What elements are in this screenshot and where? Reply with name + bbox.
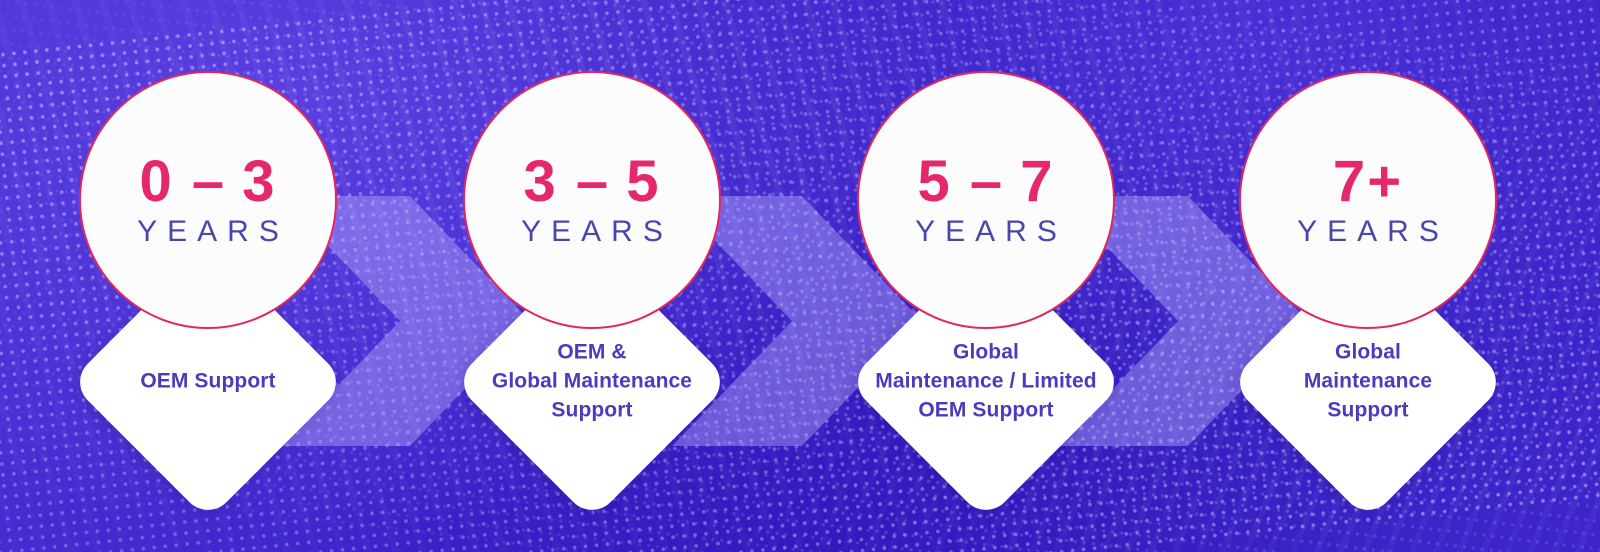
stage-0-3[interactable]: OEM Support 0 – 3 YEARS bbox=[58, 0, 358, 552]
range-start: 3 bbox=[523, 149, 557, 214]
stage-range-value: 0 – 3 bbox=[139, 153, 276, 211]
stage-label-line: Global bbox=[1228, 339, 1508, 368]
stage-circle-badge[interactable]: 0 – 3 YEARS bbox=[79, 71, 337, 329]
range-end: 3 bbox=[242, 149, 276, 214]
range-start: 7 bbox=[1333, 149, 1367, 214]
stage-5-7[interactable]: Global Maintenance / Limited OEM Support… bbox=[836, 0, 1136, 552]
stage-label-line: Support bbox=[1228, 396, 1508, 425]
range-end: + bbox=[1367, 149, 1403, 214]
stage-circle-badge[interactable]: 5 – 7 YEARS bbox=[857, 71, 1115, 329]
stage-label-line: Global bbox=[846, 339, 1126, 368]
range-end: 5 bbox=[626, 149, 660, 214]
stage-range-value: 3 – 5 bbox=[523, 153, 660, 211]
stage-range-value: 7+ bbox=[1333, 153, 1403, 211]
stage-label-line: OEM & bbox=[452, 339, 732, 368]
range-end: 7 bbox=[1020, 149, 1054, 214]
stage-years-caption: YEARS bbox=[127, 217, 289, 247]
range-start: 5 bbox=[917, 149, 951, 214]
stage-label-text: OEM Support bbox=[68, 368, 348, 397]
stage-label-line: OEM Support bbox=[846, 396, 1126, 425]
stage-label-line: Support bbox=[452, 396, 732, 425]
stage-label-line: Maintenance bbox=[1228, 368, 1508, 397]
stage-label-line: Maintenance / Limited bbox=[846, 368, 1126, 397]
stage-label-text: OEM & Global Maintenance Support bbox=[452, 339, 732, 426]
stage-label-line: OEM Support bbox=[68, 368, 348, 397]
stage-label-text: Global Maintenance / Limited OEM Support bbox=[846, 339, 1126, 426]
range-dash-icon: – bbox=[174, 149, 243, 214]
support-lifecycle-infographic: OEM Support 0 – 3 YEARS OEM & Global Mai… bbox=[0, 0, 1600, 552]
stage-7-plus[interactable]: Global Maintenance Support 7+ YEARS bbox=[1218, 0, 1518, 552]
stage-circle-badge[interactable]: 7+ YEARS bbox=[1239, 71, 1497, 329]
stage-years-caption: YEARS bbox=[1287, 217, 1449, 247]
stage-label-text: Global Maintenance Support bbox=[1228, 339, 1508, 426]
range-dash-icon: – bbox=[952, 149, 1021, 214]
stage-circle-badge[interactable]: 3 – 5 YEARS bbox=[463, 71, 721, 329]
stage-label-line: Global Maintenance bbox=[452, 368, 732, 397]
range-start: 0 bbox=[139, 149, 173, 214]
stage-years-caption: YEARS bbox=[511, 217, 673, 247]
stage-3-5[interactable]: OEM & Global Maintenance Support 3 – 5 Y… bbox=[442, 0, 742, 552]
stage-years-caption: YEARS bbox=[905, 217, 1067, 247]
range-dash-icon: – bbox=[558, 149, 627, 214]
stage-range-value: 5 – 7 bbox=[917, 153, 1054, 211]
